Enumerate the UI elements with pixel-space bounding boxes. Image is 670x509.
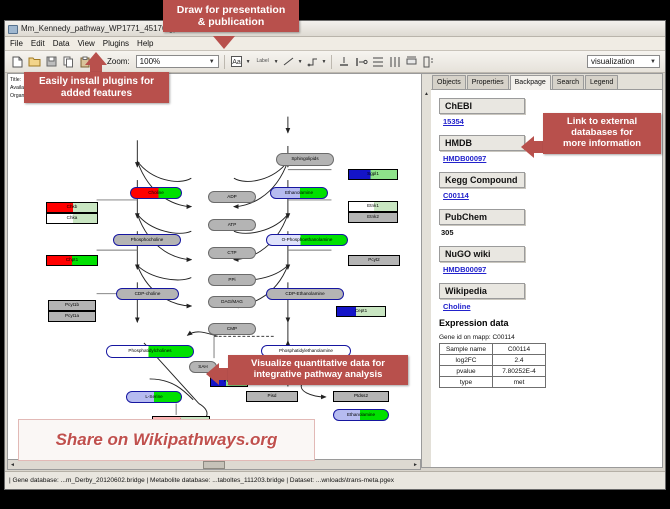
- node-label: PPi: [228, 278, 235, 283]
- node-label: Sgpl1: [367, 172, 379, 177]
- node-label: O-Phosphoethanolamine: [282, 238, 333, 243]
- node-label: Etnk1: [367, 204, 379, 209]
- window-title: Mm_Kennedy_pathway_WP1771_45176.gpml: [21, 24, 186, 33]
- node-label: Chpt1: [66, 258, 78, 263]
- db-header-pubchem: PubChem: [439, 209, 525, 225]
- menu-item-edit[interactable]: Edit: [31, 39, 45, 48]
- scroll-right-icon[interactable]: ►: [411, 462, 420, 468]
- callout-install-plugins: Easily install plugins for added feature…: [24, 72, 169, 103]
- status-text: | Gene database: ...m_Derby_20120602.bri…: [5, 477, 394, 484]
- menu-item-file[interactable]: File: [10, 39, 23, 48]
- metabolite-node: Sphingolipids: [276, 153, 334, 166]
- node-label: Pcyt1a: [65, 314, 79, 319]
- db-header-chebi: ChEBI: [439, 98, 525, 114]
- chevron-down-icon[interactable]: ▼: [647, 56, 659, 67]
- gene-node: Pcyt1b: [48, 300, 96, 311]
- zoom-combobox[interactable]: 100% ▼: [136, 55, 219, 68]
- metabolite-node: CTP: [208, 247, 256, 259]
- toolbar-separator-2: [224, 55, 225, 69]
- stack-icon[interactable]: [405, 54, 419, 69]
- line-icon[interactable]: [282, 54, 296, 69]
- connector-icon[interactable]: [306, 54, 320, 69]
- table-cell-key: type: [440, 377, 493, 388]
- status-bar: | Gene database: ...m_Derby_20120602.bri…: [5, 471, 665, 489]
- metabolite-node: Phosphatidylcholines: [106, 345, 194, 358]
- callout-draw-publication: Draw for presentation & publication: [163, 0, 299, 32]
- scroll-left-icon[interactable]: ◄: [8, 462, 17, 468]
- visualization-value: visualization: [591, 57, 635, 66]
- table-cell-key: pvalue: [440, 366, 493, 377]
- order-icon[interactable]: [422, 54, 436, 69]
- callout-arrow-up: [85, 52, 107, 65]
- db-header-hmdb: HMDB: [439, 135, 525, 151]
- new-file-icon[interactable]: [10, 54, 24, 69]
- align-bottom-icon[interactable]: [337, 54, 351, 69]
- app-icon: [8, 24, 17, 33]
- node-label: L-Serine: [145, 395, 162, 400]
- metabolite-node: ATP: [208, 219, 256, 231]
- menu-item-help[interactable]: Help: [137, 39, 153, 48]
- node-label: Chkb: [67, 205, 78, 210]
- open-folder-icon[interactable]: [27, 54, 41, 69]
- gene-node: Sgpl1: [348, 169, 398, 180]
- metabolite-node: Ethanolamine: [333, 409, 389, 421]
- gene-node: Cept1: [336, 306, 386, 317]
- visualization-combobox[interactable]: visualization ▼: [587, 55, 660, 68]
- db-value-pubchem: 305: [441, 228, 654, 237]
- node-label: ADP: [227, 195, 236, 200]
- table-row: type met: [440, 377, 546, 388]
- table-cell-value: 7.80252E-4: [493, 366, 546, 377]
- callout-visualize-data: Visualize quantitative data for integrat…: [228, 355, 408, 385]
- db-link-hmdb[interactable]: HMDB00097: [443, 154, 654, 163]
- node-label: Choline: [148, 191, 164, 196]
- expression-table: Sample name C00114 log2FC 2.4 pvalue 7.8…: [439, 343, 546, 388]
- chevron-down-icon[interactable]: ▼: [246, 59, 251, 65]
- metabolite-node: PPi: [208, 274, 256, 286]
- side-panel-tabs: Objects Properties Backpage Search Legen…: [422, 74, 662, 90]
- node-label: Ptdss2: [354, 394, 368, 399]
- callout-arrow-left: [206, 363, 219, 385]
- gene-id-label: Gene id on mapp: C00114: [439, 334, 654, 341]
- callout-text: Share on Wikipathways.org: [56, 430, 278, 450]
- tab-search[interactable]: Search: [552, 75, 584, 89]
- table-cell-value: 2.4: [493, 355, 546, 366]
- menu-item-plugins[interactable]: Plugins: [103, 39, 129, 48]
- chevron-down-icon[interactable]: ▼: [206, 56, 218, 67]
- distribute-horizontal-icon[interactable]: [388, 54, 402, 69]
- node-label: ATP: [228, 223, 237, 228]
- node-label: Ethanolamine: [285, 191, 313, 196]
- node-label: Phosphatidylcholines: [128, 349, 171, 354]
- copy-icon[interactable]: [61, 54, 75, 69]
- node-label: Etnk2: [367, 215, 379, 220]
- metabolite-node: DAG/MAG: [208, 296, 256, 308]
- db-header-nugo: NuGO wiki: [439, 246, 525, 262]
- table-cell-value: met: [493, 377, 546, 388]
- table-row: pvalue 7.80252E-4: [440, 366, 546, 377]
- table-cell-value: C00114: [493, 344, 546, 355]
- metabolite-node: Choline: [130, 187, 182, 199]
- metabolite-node: CDP-choline: [116, 288, 179, 300]
- node-label: Pcyt1b: [65, 303, 79, 308]
- callout-text: Link to external databases for more info…: [543, 113, 661, 154]
- node-label: DAG/MAG: [221, 300, 243, 305]
- menu-item-data[interactable]: Data: [53, 39, 70, 48]
- metabolite-node: ADP: [208, 191, 256, 203]
- node-label: Phosphatidylethanolamine: [279, 349, 333, 354]
- callout-text: Visualize quantitative data for integrat…: [228, 355, 408, 385]
- metabolite-node: O-Phosphoethanolamine: [266, 234, 348, 246]
- node-label: CMP: [227, 327, 237, 332]
- chevron-down-icon[interactable]: ▼: [298, 59, 303, 65]
- tab-backpage[interactable]: Backpage: [510, 75, 551, 90]
- chevron-down-icon[interactable]: ▼: [274, 59, 279, 65]
- zoom-value: 100%: [140, 57, 160, 66]
- scroll-up-icon[interactable]: ▲: [422, 89, 431, 98]
- save-icon[interactable]: [44, 54, 58, 69]
- chevron-down-icon[interactable]: ▼: [322, 59, 327, 65]
- table-cell-key: log2FC: [440, 355, 493, 366]
- gene-node: Pisd: [246, 391, 298, 402]
- table-row: Sample name C00114: [440, 344, 546, 355]
- node-label: CDP-choline: [135, 292, 161, 297]
- gene-node: Chkb: [46, 202, 98, 213]
- callout-external-links: Link to external databases for more info…: [543, 113, 661, 154]
- node-label: Phosphocholine: [131, 238, 164, 243]
- toolbar-separator-3: [331, 55, 332, 69]
- callout-arrow-down: [213, 36, 235, 49]
- node-label: Chka: [67, 216, 78, 221]
- node-label: Sphingolipids: [291, 157, 318, 162]
- node-label: Pisd: [268, 394, 277, 399]
- expression-data-heading: Expression data: [439, 318, 654, 328]
- db-header-kegg: Kegg Compound: [439, 172, 525, 188]
- gene-node: Ptdss2: [333, 391, 389, 402]
- metabolite-node: Phosphocholine: [113, 234, 181, 246]
- node-label: Pcyt2: [368, 258, 380, 263]
- table-cell-key: Sample name: [440, 344, 493, 355]
- node-label: Cept1: [355, 309, 367, 314]
- menu-bar: File Edit Data View Plugins Help: [5, 37, 665, 51]
- gene-node: Etnk2: [348, 212, 398, 223]
- text-format-icon[interactable]: Aa: [230, 54, 244, 69]
- metabolite-node: CMP: [208, 323, 256, 335]
- gene-node: Pcyt2: [348, 255, 400, 266]
- node-label: CTP: [227, 251, 236, 256]
- svg-text:Aa: Aa: [232, 59, 241, 66]
- title-bar: Mm_Kennedy_pathway_WP1771_45176.gpml: [5, 21, 665, 37]
- callout-text: Draw for presentation & publication: [163, 0, 299, 32]
- table-row: log2FC 2.4: [440, 355, 546, 366]
- zoom-label: Zoom:: [107, 57, 130, 66]
- db-link-nugo[interactable]: HMDB00097: [443, 265, 654, 274]
- gene-node: Etnk1: [348, 201, 398, 212]
- callout-share-wikipathways: Share on Wikipathways.org: [18, 419, 315, 461]
- menu-item-view[interactable]: View: [78, 39, 95, 48]
- gene-node: Chka: [46, 213, 98, 224]
- scrollbar-thumb[interactable]: [203, 461, 225, 469]
- callout-arrow-left: [521, 136, 534, 158]
- tab-properties[interactable]: Properties: [467, 75, 509, 89]
- node-label: Ethanolamine: [347, 413, 375, 418]
- pathway-canvas[interactable]: Title: Availa Organi: [7, 73, 421, 468]
- gene-node: Pcyt1a: [48, 311, 96, 322]
- db-link-wikipedia[interactable]: Choline: [443, 302, 654, 311]
- label-button-text: Label: [257, 59, 269, 64]
- metabolite-node: Ethanolamine: [270, 187, 328, 199]
- node-label: CDP-Ethanolamine: [285, 292, 324, 297]
- distribute-vertical-icon[interactable]: [371, 54, 385, 69]
- tab-objects[interactable]: Objects: [432, 75, 466, 89]
- align-left-icon[interactable]: [354, 54, 368, 69]
- metabolite-node: L-Serine: [126, 391, 182, 403]
- gene-node: Chpt1: [46, 255, 98, 266]
- tab-legend[interactable]: Legend: [585, 75, 618, 89]
- db-link-kegg[interactable]: C00114: [443, 191, 654, 200]
- metabolite-node: CDP-Ethanolamine: [266, 288, 344, 300]
- callout-text: Easily install plugins for added feature…: [24, 72, 169, 103]
- label-icon[interactable]: Label: [254, 54, 272, 69]
- db-header-wikipedia: Wikipedia: [439, 283, 525, 299]
